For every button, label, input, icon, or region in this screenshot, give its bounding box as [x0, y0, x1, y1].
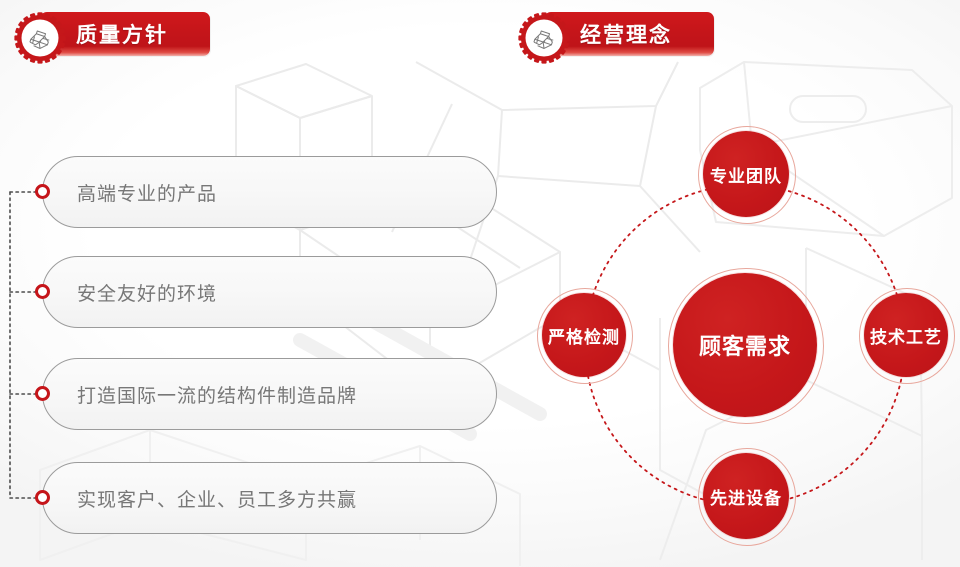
- slide-canvas: 质量方针: [0, 0, 960, 567]
- center-bubble[interactable]: 顾客需求: [673, 273, 817, 417]
- quality-policy-list: 高端专业的产品 安全友好的环境 打造国际一流的结构件制造品牌 实现客户、企业、员…: [0, 140, 520, 550]
- satellite-bubble-top[interactable]: 专业团队: [703, 131, 789, 217]
- satellite-bubble-label: 严格检测: [548, 323, 620, 348]
- gear-machinery-icon: [518, 12, 570, 64]
- gear-machinery-icon: [14, 12, 66, 64]
- business-philosophy-banner: 经营理念: [518, 12, 718, 56]
- policy-item[interactable]: 打造国际一流的结构件制造品牌: [42, 358, 497, 430]
- business-philosophy-diagram: 顾客需求 专业团队 严格检测 技术工艺 先进设备: [500, 80, 960, 567]
- node-dot: [35, 386, 50, 401]
- satellite-bubble-label: 专业团队: [710, 162, 782, 187]
- policy-item[interactable]: 实现客户、企业、员工多方共赢: [42, 462, 497, 534]
- policy-item-label: 高端专业的产品: [77, 179, 217, 206]
- policy-item[interactable]: 安全友好的环境: [42, 256, 497, 328]
- policy-item-label: 实现客户、企业、员工多方共赢: [77, 485, 357, 512]
- policy-item-label: 打造国际一流的结构件制造品牌: [77, 381, 357, 408]
- node-dot: [35, 284, 50, 299]
- satellite-bubble-right[interactable]: 技术工艺: [864, 293, 948, 377]
- center-bubble-label: 顾客需求: [699, 329, 791, 361]
- satellite-bubble-bottom[interactable]: 先进设备: [703, 453, 789, 539]
- business-philosophy-title: 经营理念: [580, 19, 672, 49]
- policy-item-label: 安全友好的环境: [77, 279, 217, 306]
- satellite-bubble-label: 先进设备: [710, 484, 782, 509]
- node-dot: [35, 490, 50, 505]
- policy-item[interactable]: 高端专业的产品: [42, 156, 497, 228]
- quality-policy-banner: 质量方针: [14, 12, 214, 56]
- satellite-bubble-left[interactable]: 严格检测: [542, 293, 626, 377]
- quality-policy-title: 质量方针: [76, 19, 168, 49]
- node-dot: [35, 184, 50, 199]
- satellite-bubble-label: 技术工艺: [870, 323, 942, 348]
